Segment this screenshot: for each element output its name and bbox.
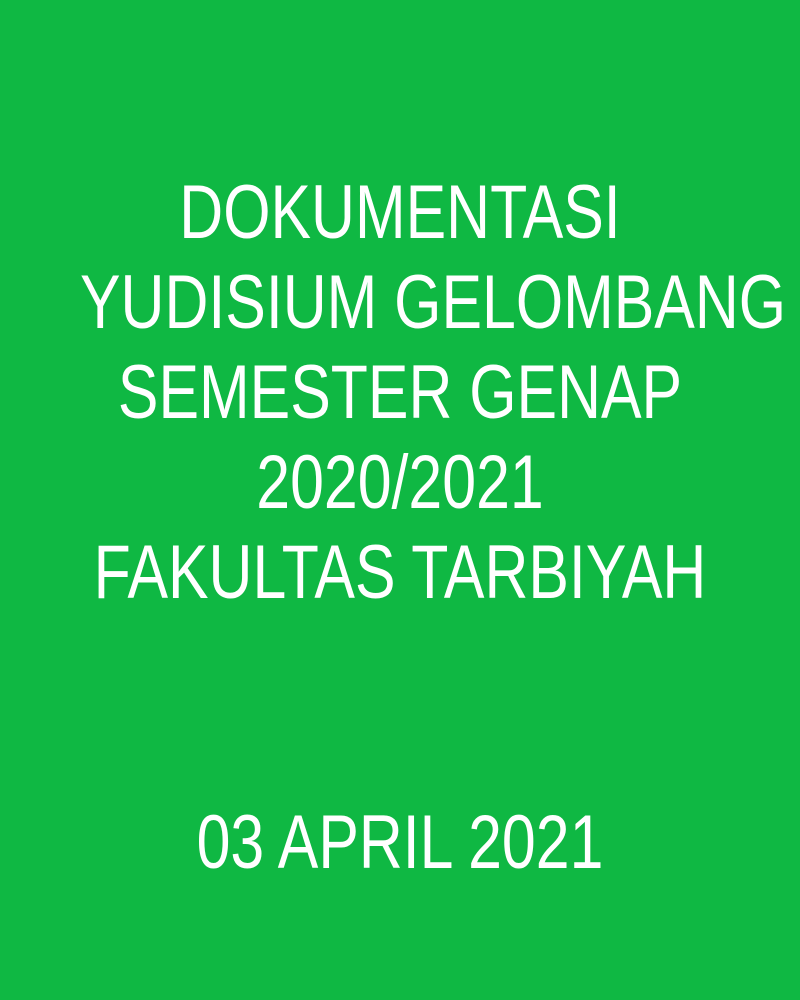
blank-line-separator [0,708,800,798]
poster-title-line-5-faculty: FAKULTAS TARBIYAH [80,528,720,618]
poster-date: 03 APRIL 2021 [80,798,720,888]
poster-title-line-3: SEMESTER GENAP [80,348,720,438]
poster-title-line-2: YUDISIUM GELOMBANG I [80,258,720,348]
poster-title-block: DOKUMENTASI YUDISIUM GELOMBANG I SEMESTE… [0,168,800,618]
poster-background: DOKUMENTASI YUDISIUM GELOMBANG I SEMESTE… [0,0,800,1000]
poster-date-block: 03 APRIL 2021 [0,708,800,888]
poster-title-line-4-academic-year: 2020/2021 [80,438,720,528]
poster-title-line-1: DOKUMENTASI [80,168,720,258]
